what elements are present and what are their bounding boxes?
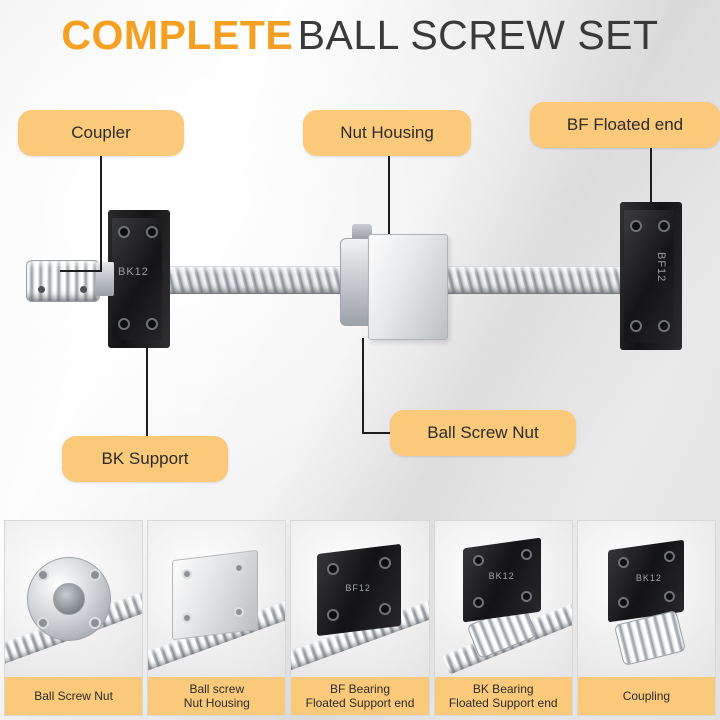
thumb2-housing-block bbox=[172, 550, 258, 641]
thumb1-flange-hole-1 bbox=[37, 569, 49, 581]
coupler-set-screw-2 bbox=[80, 286, 87, 293]
bk12-mount-hole-3 bbox=[118, 318, 130, 330]
thumbnail-caption-coupling: Coupling bbox=[578, 677, 715, 715]
leader-line-bk-support bbox=[146, 348, 148, 436]
thumb4-bk-marking: BK12 bbox=[489, 571, 515, 581]
thumb3-bf-marking: BF12 bbox=[345, 583, 371, 593]
flexible-coupler bbox=[26, 260, 100, 302]
thumb5-bk-hole-3 bbox=[618, 597, 629, 608]
thumb5-bk-hole-2 bbox=[664, 551, 675, 562]
thumb4-bk-hole-3 bbox=[473, 597, 484, 608]
callout-bk-support-label: BK Support bbox=[102, 449, 189, 469]
thumbnail-caption-nut-housing: Ball screw Nut Housing bbox=[148, 677, 285, 715]
thumb1-flange-hole-3 bbox=[37, 617, 49, 629]
bf12-mount-hole-1 bbox=[630, 220, 642, 232]
leader-line-coupler bbox=[100, 156, 102, 272]
thumbnail-photo-bf-bearing: BF12 bbox=[291, 521, 428, 679]
leader-line-ball-screw-nut-foot bbox=[362, 432, 392, 434]
thumb4-bk-hole-2 bbox=[521, 549, 532, 560]
thumbnail-bk-bearing[interactable]: BK12 BK Bearing Floated Support end bbox=[434, 520, 573, 716]
thumb2-caption-line2: Nut Housing bbox=[184, 696, 250, 710]
thumb5-bk-hole-4 bbox=[664, 591, 675, 602]
thumb3-caption-line2: Floated Support end bbox=[306, 696, 415, 710]
bk12-mount-hole-4 bbox=[146, 318, 158, 330]
leader-line-bf bbox=[650, 148, 652, 210]
thumbnail-bf-bearing[interactable]: BF12 BF Bearing Floated Support end bbox=[290, 520, 429, 716]
thumbnail-caption-bk-bearing: BK Bearing Floated Support end bbox=[435, 677, 572, 715]
thumbnail-photo-nut-housing bbox=[148, 521, 285, 679]
bf12-mount-hole-4 bbox=[658, 320, 670, 332]
thumb1-flange-hole-2 bbox=[89, 569, 101, 581]
bf12-mount-hole-2 bbox=[658, 220, 670, 232]
coupler-set-screw-1 bbox=[38, 286, 45, 293]
thumb2-caption-line1: Ball screw bbox=[184, 682, 250, 696]
thumbnail-nut-housing[interactable]: Ball screw Nut Housing bbox=[147, 520, 286, 716]
bk12-marking-label: BK12 bbox=[118, 266, 149, 278]
callout-nut-housing-label: Nut Housing bbox=[340, 123, 434, 143]
thumb1-nut-bore bbox=[53, 583, 85, 615]
thumb4-bk-hole-4 bbox=[521, 591, 532, 602]
bk12-mount-hole-1 bbox=[118, 226, 130, 238]
callout-coupler: Coupler bbox=[18, 110, 184, 156]
thumb5-caption-line1: Coupling bbox=[623, 689, 670, 703]
thumb5-bk-marking: BK12 bbox=[636, 573, 662, 583]
screw-shaft-threaded-left bbox=[160, 266, 360, 294]
product-infographic: COMPLETE BALL SCREW SET BK12 BF12 bbox=[0, 0, 720, 720]
thumb1-flange-hole-4 bbox=[89, 617, 101, 629]
thumbnail-coupling[interactable]: BK12 Coupling bbox=[577, 520, 716, 716]
thumb4-bk-hole-1 bbox=[473, 555, 484, 566]
callout-ball-screw-nut-label: Ball Screw Nut bbox=[427, 423, 538, 443]
thumbnail-photo-coupling: BK12 bbox=[578, 521, 715, 679]
thumb1-caption-line1: Ball Screw Nut bbox=[34, 689, 113, 703]
leader-line-coupler-foot bbox=[60, 270, 102, 272]
bf12-mount-hole-3 bbox=[630, 320, 642, 332]
title-accent-word: COMPLETE bbox=[61, 12, 293, 58]
thumb4-caption-line1: BK Bearing bbox=[449, 682, 558, 696]
ball-screw-assembly-image: BK12 BF12 bbox=[0, 180, 720, 380]
callout-bf-floated-end: BF Floated end bbox=[530, 102, 720, 148]
thumbnail-caption-bf-bearing: BF Bearing Floated Support end bbox=[291, 677, 428, 715]
callout-bk-support: BK Support bbox=[62, 436, 228, 482]
callout-nut-housing: Nut Housing bbox=[303, 110, 471, 156]
bf12-marking-label: BF12 bbox=[655, 252, 667, 282]
thumb4-caption-line2: Floated Support end bbox=[449, 696, 558, 710]
bk12-bearing-collar bbox=[96, 262, 114, 296]
thumbnail-caption-ball-screw-nut: Ball Screw Nut bbox=[5, 677, 142, 715]
thumbnail-ball-screw-nut[interactable]: Ball Screw Nut bbox=[4, 520, 143, 716]
thumbnail-strip: Ball Screw Nut Ball screw Nut Housing bbox=[4, 520, 716, 716]
callout-coupler-label: Coupler bbox=[71, 123, 131, 143]
bk12-mount-hole-2 bbox=[146, 226, 158, 238]
screw-shaft-threaded-right bbox=[440, 266, 630, 294]
page-title: COMPLETE BALL SCREW SET bbox=[0, 12, 720, 59]
thumbnail-photo-bk-bearing: BK12 bbox=[435, 521, 572, 679]
nut-housing-block bbox=[368, 234, 448, 340]
thumb3-caption-line1: BF Bearing bbox=[306, 682, 415, 696]
callout-ball-screw-nut: Ball Screw Nut bbox=[390, 410, 576, 456]
thumbnail-photo-ball-screw-nut bbox=[5, 521, 142, 679]
callout-bf-floated-end-label: BF Floated end bbox=[567, 115, 683, 135]
title-main-words: BALL SCREW SET bbox=[298, 12, 659, 58]
leader-line-nut-housing bbox=[388, 156, 390, 234]
leader-line-ball-screw-nut bbox=[362, 338, 364, 432]
thumb5-bk-hole-1 bbox=[618, 557, 629, 568]
